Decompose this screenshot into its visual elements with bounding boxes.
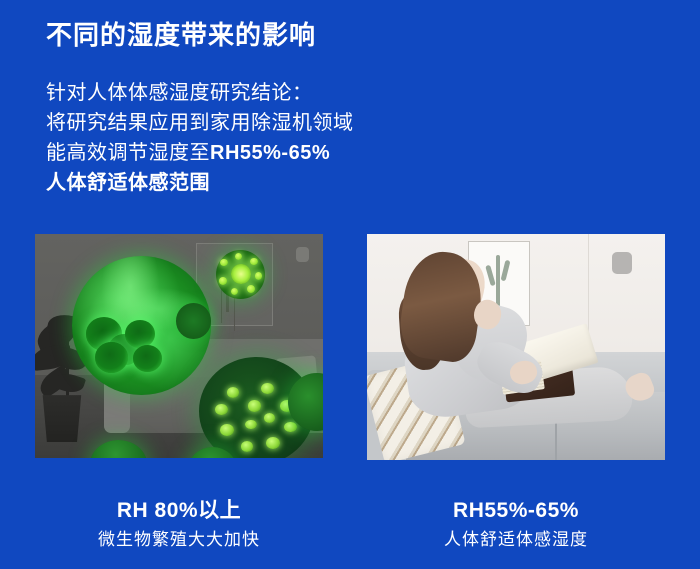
microbe-spike	[261, 383, 274, 394]
body-line-4: 人体舒适体感范围	[46, 168, 354, 198]
body-line-3: 能高效调节湿度至RH55%-65%	[46, 138, 354, 168]
microbe-spike	[220, 259, 228, 267]
body-line-2: 将研究结果应用到家用除湿机领域	[46, 108, 354, 138]
humidity-infographic: 不同的湿度带来的影响 针对人体体感湿度研究结论： 将研究结果应用到家用除湿机领域…	[0, 0, 700, 569]
bright-living-room-scene	[367, 234, 665, 460]
body-copy: 针对人体体感湿度研究结论： 将研究结果应用到家用除湿机领域 能高效调节湿度至RH…	[46, 78, 354, 198]
microbe-spike	[255, 272, 262, 279]
microbe-spike	[231, 288, 238, 295]
microbe-spike	[250, 258, 258, 266]
caption-title: RH55%-65%	[367, 497, 665, 524]
microbe-spike	[264, 413, 276, 423]
microbe-spike	[248, 400, 262, 412]
microbe-spike	[235, 253, 242, 260]
page-title: 不同的湿度带来的影响	[46, 18, 316, 52]
microbe-spike	[245, 420, 257, 430]
plant-pot	[41, 395, 83, 442]
microbe-spike	[284, 422, 297, 433]
microbe-cell	[133, 345, 162, 371]
microbe-spike	[219, 277, 226, 284]
microbe-cell	[95, 342, 128, 373]
microbe-spike	[227, 387, 240, 398]
microbe-core	[231, 264, 251, 284]
body-line-1: 针对人体体感湿度研究结论：	[46, 78, 354, 108]
microbe-cell	[125, 320, 155, 348]
microbe-small-side	[176, 303, 211, 339]
caption-subtitle: 人体舒适体感湿度	[367, 527, 665, 553]
caption-high-humidity: RH 80%以上 微生物繁殖大大加快	[35, 497, 323, 553]
microbe-spike	[266, 437, 280, 449]
microbe-spike	[247, 285, 255, 293]
photo-high-humidity	[35, 234, 323, 458]
caption-title: RH 80%以上	[35, 497, 323, 524]
microbe-spike	[215, 404, 228, 415]
humidity-range-value: RH55%-65%	[210, 142, 330, 164]
microbe-spike	[220, 424, 234, 436]
photo-comfort-humidity	[367, 234, 665, 460]
caption-subtitle: 微生物繁殖大大加快	[35, 527, 323, 553]
microbe-spike	[241, 441, 254, 452]
dark-living-room-scene	[35, 234, 323, 458]
woman-reading	[367, 234, 665, 460]
caption-comfort-humidity: RH55%-65% 人体舒适体感湿度	[367, 497, 665, 553]
body-line-3-prefix: 能高效调节湿度至	[46, 142, 210, 164]
microbe-virus-top	[216, 250, 265, 299]
wall-knob-icon	[296, 247, 309, 262]
